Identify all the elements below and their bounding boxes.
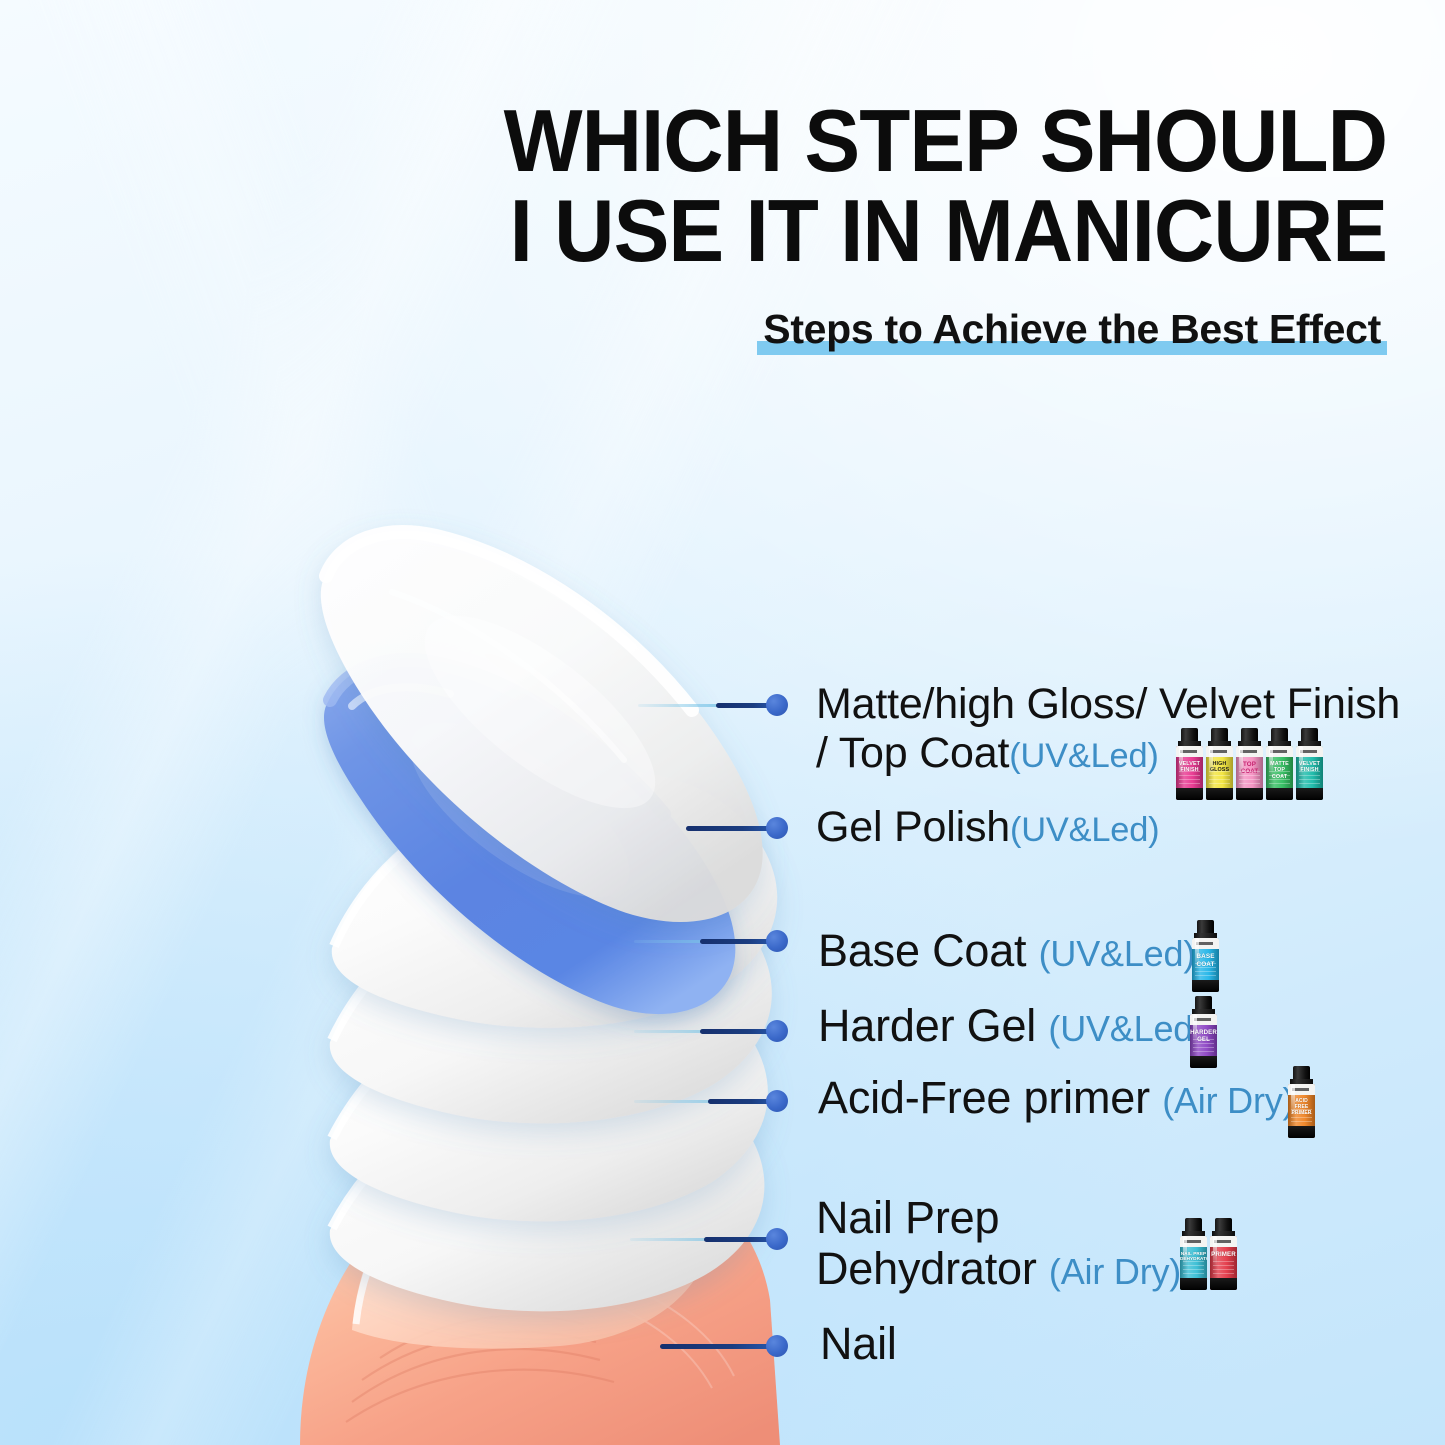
bottle-group-nail-prep: NAIL PREPDEHYDRATOR PRIMER — [1180, 1218, 1237, 1290]
bottle-cap-icon — [1197, 920, 1214, 933]
callout-label-dehydrator-line2: Dehydrator — [816, 1243, 1037, 1294]
callout-label-top-coat-line1: Matte/high Gloss/ Velvet Finish — [816, 680, 1400, 728]
bottle-gloss — [1195, 938, 1199, 968]
bottle-gloss — [1269, 746, 1273, 776]
callout-label-primer-line1: Acid-Free primer — [818, 1072, 1150, 1123]
page-subtitle: Steps to Achieve the Best Effect — [763, 306, 1381, 353]
callout-cure-gel-polish: (UV&Led) — [1010, 811, 1159, 849]
bottle-base — [1190, 1056, 1217, 1068]
callout-list: Matte/high Gloss/ Velvet Finish / Top Co… — [0, 0, 1445, 1445]
callout-cure-harder-gel: (UV&Led) — [1048, 1008, 1204, 1049]
bottle-gloss — [1179, 746, 1183, 776]
nail-prep-bottle: NAIL PREPDEHYDRATOR — [1180, 1218, 1207, 1290]
bottle-gloss — [1209, 746, 1213, 776]
bottle-base — [1296, 788, 1323, 800]
gloss-yellow-bottle: HIGHGLOSS — [1206, 728, 1233, 800]
bottle-group-top-coat: VELVETFINISH HIGHGLOSS — [1176, 728, 1323, 800]
lead-line-nail — [660, 1344, 780, 1349]
bottle-cap-icon — [1301, 728, 1318, 741]
matte-pink-bottle: VELVETFINISH — [1176, 728, 1203, 800]
callout-label-gel-polish: Gel Polish(UV&Led) — [816, 803, 1159, 852]
bottle-gloss — [1239, 746, 1243, 776]
bottle-cap-icon — [1215, 1218, 1232, 1231]
harder-gel-bottle: HARDERGEL — [1190, 996, 1217, 1068]
bottle-cap-icon — [1293, 1066, 1310, 1079]
callout-cure-top-coat: (UV&Led) — [1009, 737, 1158, 775]
bottle-cap-icon — [1185, 1218, 1202, 1231]
callout-label-nail: Nail — [820, 1318, 897, 1369]
lead-dot-base-coat — [766, 930, 788, 952]
callout-label-gel-polish-line1: Gel Polish — [816, 803, 1010, 851]
callout-cure-dehydrator: (Air Dry) — [1049, 1251, 1181, 1292]
callout-label-nail-line1: Nail — [820, 1318, 897, 1369]
manicure-steps-infographic: WHICH STEP SHOULD I USE IT IN MANICURE S… — [0, 0, 1445, 1445]
callout-cure-base-coat: (UV&Led) — [1039, 933, 1195, 974]
callout-label-top-coat-line2: / Top Coat — [816, 729, 1009, 777]
bottle-cap-icon — [1271, 728, 1288, 741]
callout-label-base-coat-line1: Base Coat — [818, 925, 1026, 976]
callout-cure-primer: (Air Dry) — [1162, 1080, 1294, 1121]
velvet-teal-bottle: VELVETFINISH — [1296, 728, 1323, 800]
bottle-base — [1236, 788, 1263, 800]
primer-bottle: PRIMER — [1210, 1218, 1237, 1290]
subtitle-container: Steps to Achieve the Best Effect — [757, 306, 1387, 357]
callout-label-harder-gel-line1: Harder Gel — [818, 1000, 1036, 1051]
top-coat-bottle: TOPCOAT — [1236, 728, 1263, 800]
lead-dot-nail — [766, 1335, 788, 1357]
callout-label-base-coat: Base Coat (UV&Led) — [818, 925, 1195, 976]
lead-dot-primer — [766, 1090, 788, 1112]
bottle-group-harder-gel: HARDERGEL — [1190, 996, 1217, 1068]
bottle-gloss — [1183, 1236, 1187, 1266]
bottle-cap-icon — [1181, 728, 1198, 741]
lead-dot-top-coat — [766, 694, 788, 716]
base-coat-bottle: BASECOAT — [1192, 920, 1219, 992]
callout-label-nail-prep-dehydrator: Nail Prep Dehydrator (Air Dry) — [816, 1192, 1181, 1295]
bottle-gloss — [1193, 1014, 1197, 1044]
callout-label-dehydrator-line1: Nail Prep — [816, 1192, 999, 1243]
lead-dot-dehydrator — [766, 1228, 788, 1250]
bottle-base — [1176, 788, 1203, 800]
lead-dot-gel-polish — [766, 817, 788, 839]
bottle-base — [1180, 1278, 1207, 1290]
bottle-cap-icon — [1241, 728, 1258, 741]
bottle-cap-icon — [1195, 996, 1212, 1009]
bottle-group-acid-free-primer: ACID FREEPRIMER — [1288, 1066, 1315, 1138]
callout-label-harder-gel: Harder Gel (UV&Led) — [818, 1000, 1205, 1051]
bottle-gloss — [1291, 1084, 1295, 1114]
bottle-cap-icon — [1211, 728, 1228, 741]
callout-label-acid-free-primer: Acid-Free primer (Air Dry) — [818, 1072, 1294, 1123]
bottle-gloss — [1299, 746, 1303, 776]
bottle-group-base-coat: BASECOAT — [1192, 920, 1219, 992]
acid-free-primer-bottle: ACID FREEPRIMER — [1288, 1066, 1315, 1138]
bottle-base — [1192, 980, 1219, 992]
matte-top-coat-bottle: MATTETOP COAT — [1266, 728, 1293, 800]
bottle-gloss — [1213, 1236, 1217, 1266]
bottle-base — [1266, 788, 1293, 800]
bottle-base — [1210, 1278, 1237, 1290]
bottle-base — [1206, 788, 1233, 800]
bottle-base — [1288, 1126, 1315, 1138]
lead-dot-harder-gel — [766, 1020, 788, 1042]
